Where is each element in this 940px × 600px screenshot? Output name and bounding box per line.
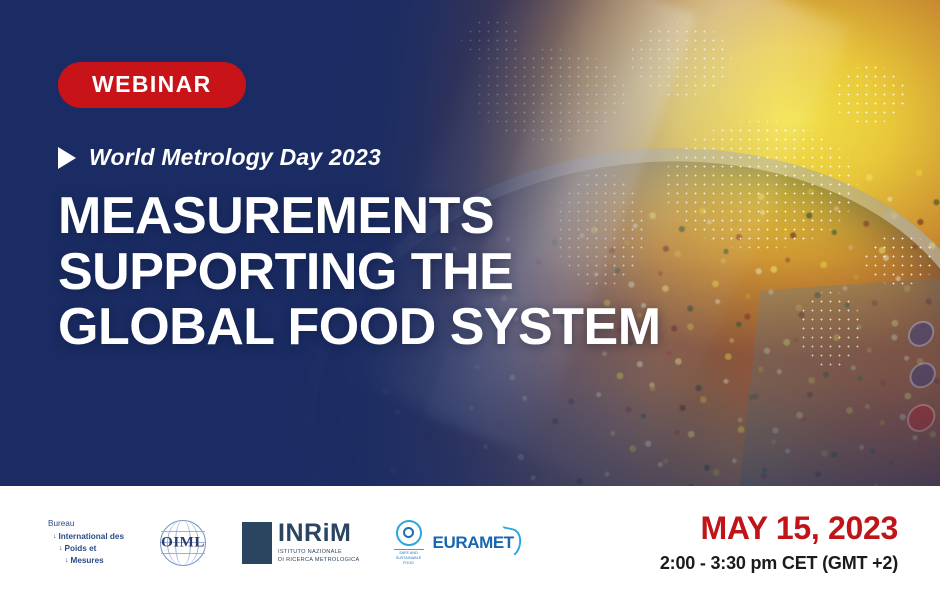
euramet-tagline: SAFE AND SUSTAINABLE FOOD <box>394 549 424 567</box>
bipm-arrow-icon-2: ↓ <box>59 544 63 555</box>
eyebrow-text: World Metrology Day 2023 <box>89 144 381 171</box>
bipm-line-4-text: Mesures <box>71 555 104 567</box>
oiml-logo: OIML <box>158 518 208 568</box>
inrim-wordmark: INRiM <box>278 521 360 546</box>
event-time: 2:00 - 3:30 pm CET (GMT +2) <box>660 553 898 574</box>
bipm-line-2-text: International des <box>59 531 125 543</box>
euramet-mark: SAFE AND SUSTAINABLE FOOD <box>394 520 424 567</box>
euramet-logo: SAFE AND SUSTAINABLE FOOD EURAMET <box>394 520 514 567</box>
bipm-line-3-text: Poids et <box>65 543 97 555</box>
bipm-logo: Bureau ↓ International des ↓ Poids et ↓ … <box>48 518 124 567</box>
bipm-line-2: ↓ International des <box>48 531 124 543</box>
footer-bar: Bureau ↓ International des ↓ Poids et ↓ … <box>0 486 940 600</box>
oiml-wordmark: OIML <box>158 535 208 552</box>
euramet-swoosh-icon <box>496 526 524 560</box>
event-date: MAY 15, 2023 <box>660 512 898 546</box>
headline-line-2: SUPPORTING THE <box>58 245 661 301</box>
page-title: MEASUREMENTS SUPPORTING THE GLOBAL FOOD … <box>58 189 661 356</box>
webinar-badge: WEBINAR <box>58 62 246 108</box>
bipm-line-1-text: Bureau <box>48 518 74 530</box>
inrim-subtitle: ISTITUTO NAZIONALE DI RICERCA METROLOGIC… <box>278 549 360 564</box>
inrim-subtitle-line-1: ISTITUTO NAZIONALE <box>278 549 360 557</box>
headline-line-3: GLOBAL FOOD SYSTEM <box>58 300 661 356</box>
euramet-circle-icon <box>396 520 422 546</box>
euramet-inner-dot-icon <box>403 527 414 538</box>
bipm-arrow-icon-1: ↓ <box>53 532 57 543</box>
inrim-block-icon <box>242 522 272 564</box>
globe-parallel-1 <box>161 531 205 532</box>
globe-parallel-3 <box>161 553 205 554</box>
event-datetime: MAY 15, 2023 2:00 - 3:30 pm CET (GMT +2) <box>660 512 898 574</box>
eyebrow-row: World Metrology Day 2023 <box>58 144 661 171</box>
bipm-arrow-icon-3: ↓ <box>65 556 69 567</box>
inrim-logo: INRiM ISTITUTO NAZIONALE DI RICERCA METR… <box>242 522 360 564</box>
headline-line-1: MEASUREMENTS <box>58 189 661 245</box>
bipm-line-3: ↓ Poids et <box>48 543 124 555</box>
bipm-line-4: ↓ Mesures <box>48 555 124 567</box>
euramet-tagline-line-2: SUSTAINABLE FOOD <box>394 556 424 566</box>
partner-logos: Bureau ↓ International des ↓ Poids et ↓ … <box>48 518 514 568</box>
webinar-banner: WEBINAR World Metrology Day 2023 MEASURE… <box>0 0 940 600</box>
inrim-subtitle-line-2: DI RICERCA METROLOGICA <box>278 557 360 565</box>
hero-section: WEBINAR World Metrology Day 2023 MEASURE… <box>0 0 940 486</box>
bipm-line-1: Bureau <box>48 518 124 530</box>
hero-copy: WEBINAR World Metrology Day 2023 MEASURE… <box>58 62 661 356</box>
play-triangle-icon <box>58 147 76 169</box>
